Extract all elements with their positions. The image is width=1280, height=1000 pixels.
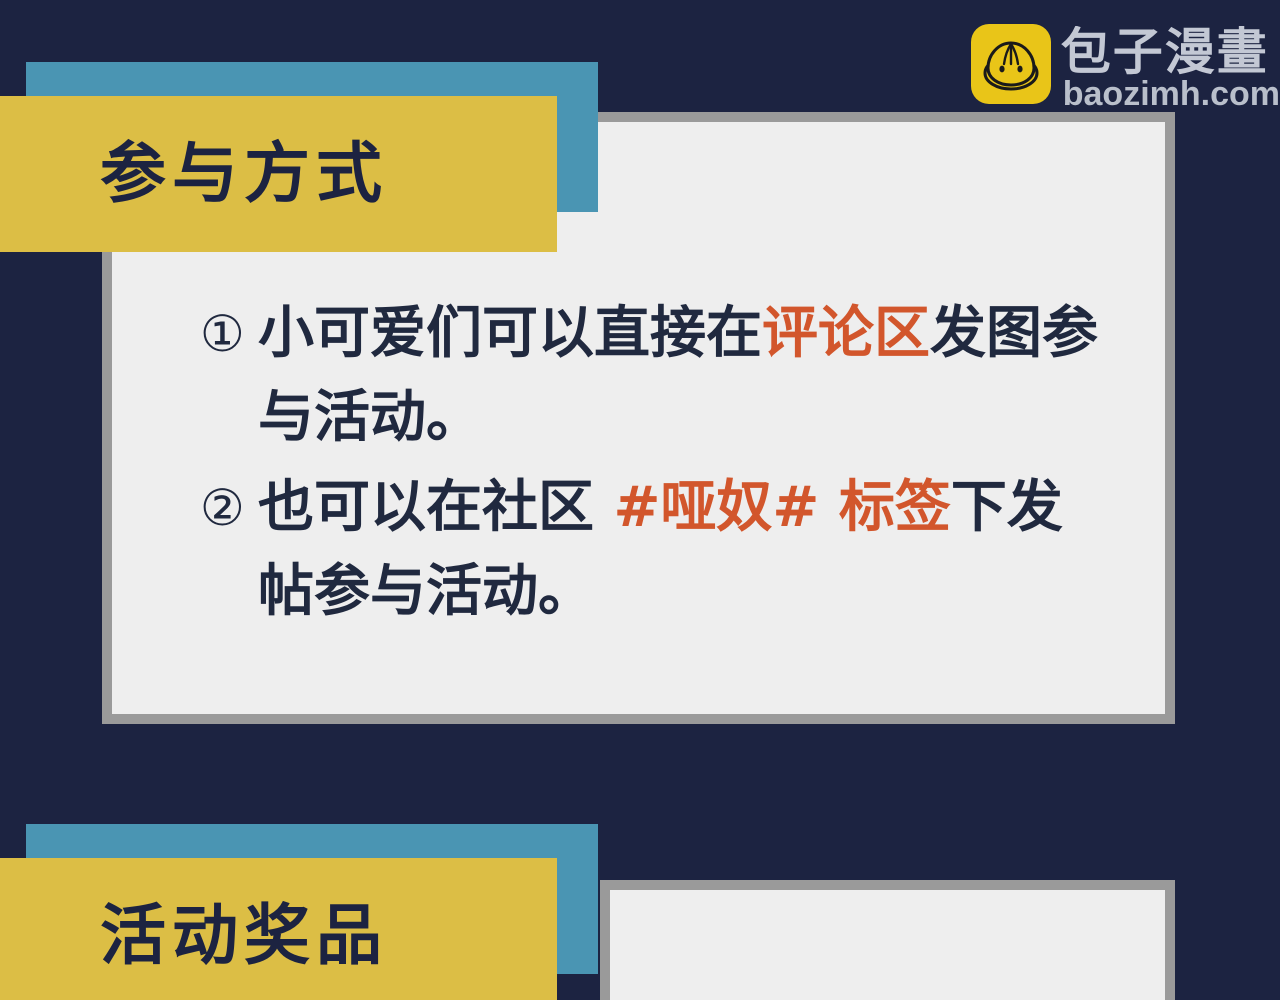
brand-name-cn: 包子漫畫 [1061, 26, 1280, 79]
step-2-segment-accent: #哑奴# 标签 [614, 475, 951, 540]
banner-shape-yellow: 参与方式 [0, 96, 557, 252]
step-marker-1: ① [200, 292, 258, 376]
participation-steps-list: ① 小可爱们可以直接在评论区发图参与活动。 ② 也可以在社区 #哑奴# 标签下发… [200, 292, 1100, 640]
banner-shape-yellow: 活动奖品 [0, 858, 557, 1000]
brand-text-block: 包子漫畫 baozimh.com [1061, 26, 1280, 111]
step-text-1: 小可爱们可以直接在评论区发图参与活动。 [258, 292, 1100, 460]
comic-announcement-page: 参与方式 ① 小可爱们可以直接在评论区发图参与活动。 ② 也可以在社区 #哑奴#… [0, 0, 1280, 1000]
baozi-bun-icon [971, 24, 1051, 104]
section-title-prizes: 活动奖品 [0, 903, 388, 969]
step-marker-2: ② [200, 466, 258, 550]
brand-watermark: 包子漫畫 baozimh.com [971, 24, 1280, 111]
prizes-content-panel [600, 880, 1175, 1000]
section-title-participation: 参与方式 [0, 141, 388, 207]
list-item: ② 也可以在社区 #哑奴# 标签下发帖参与活动。 [200, 466, 1100, 634]
brand-url: baozimh.com [1063, 77, 1280, 111]
step-text-2: 也可以在社区 #哑奴# 标签下发帖参与活动。 [258, 466, 1100, 634]
step-1-segment-accent: 评论区 [762, 301, 930, 366]
step-1-segment-plain-1: 小可爱们可以直接在 [258, 301, 762, 366]
step-2-segment-plain-1: 也可以在社区 [258, 475, 614, 540]
list-item: ① 小可爱们可以直接在评论区发图参与活动。 [200, 292, 1100, 460]
